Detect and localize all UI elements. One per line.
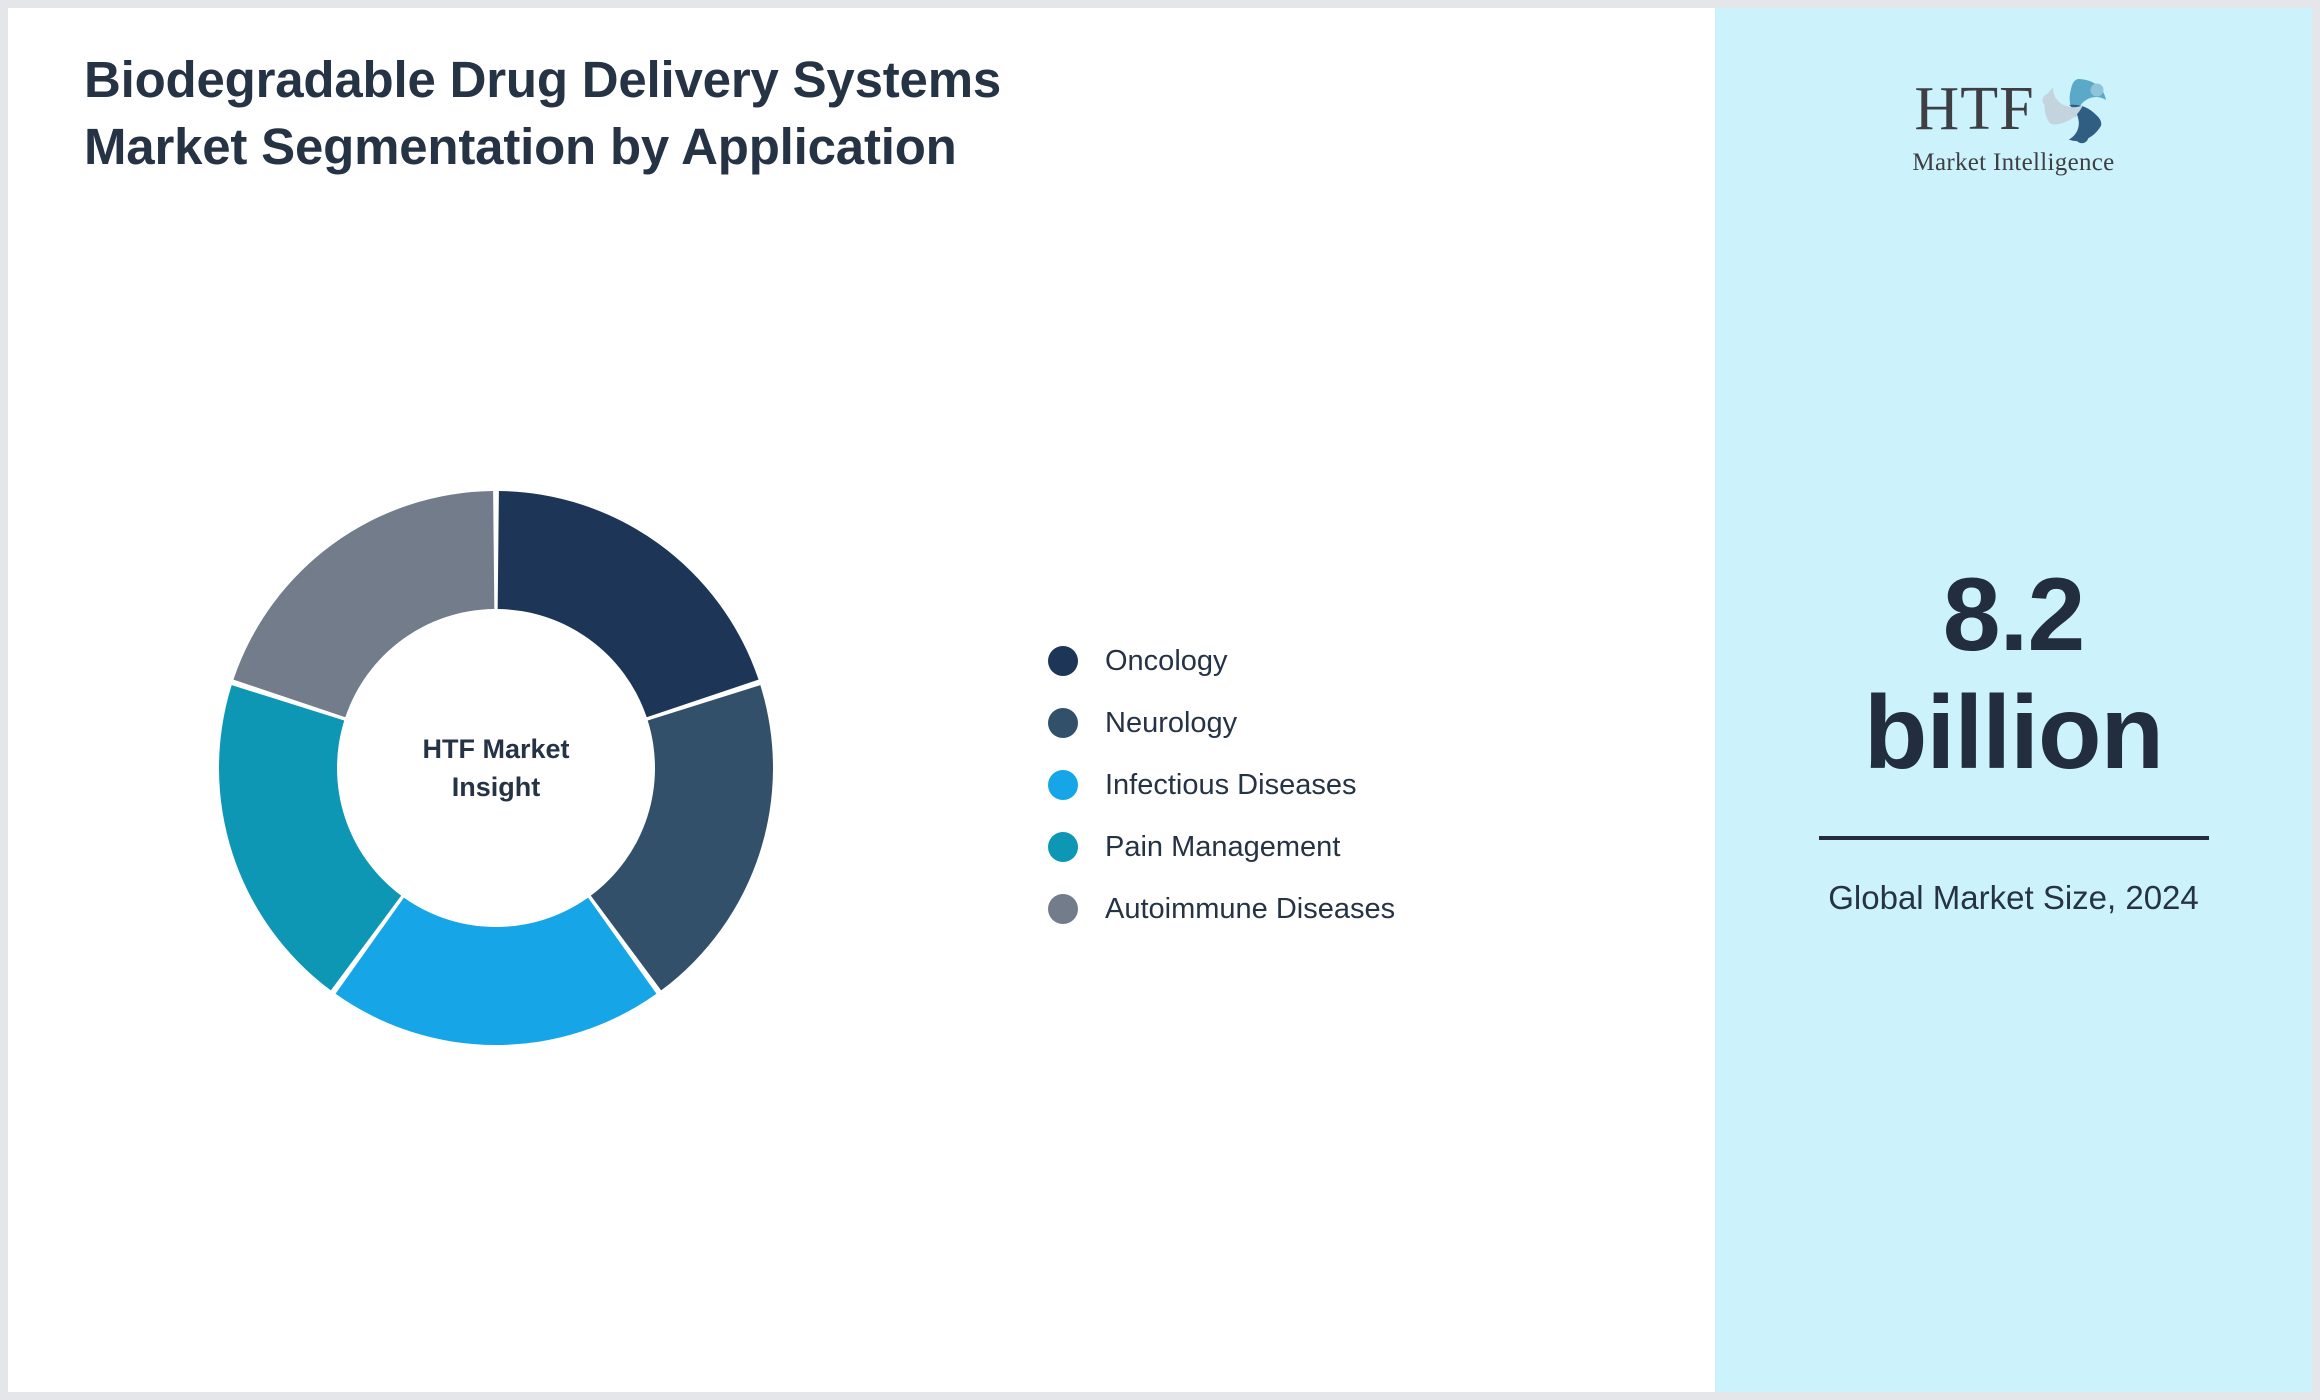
- stat-value-unit: billion: [1764, 674, 2264, 792]
- chart-legend: OncologyNeurologyInfectious DiseasesPain…: [1048, 630, 1395, 940]
- donut-chart-svg: [207, 479, 785, 1057]
- legend-label: Neurology: [1105, 707, 1237, 740]
- legend-swatch-icon: [1048, 770, 1078, 800]
- page-title: Biodegradable Drug Delivery Systems Mark…: [84, 46, 1034, 180]
- donut-chart: HTF Market Insight: [207, 479, 785, 1057]
- chart-pane: Biodegradable Drug Delivery Systems Mark…: [8, 8, 1715, 1392]
- legend-label: Oncology: [1105, 645, 1228, 678]
- legend-item: Infectious Diseases: [1048, 754, 1395, 816]
- legend-swatch-icon: [1048, 646, 1078, 676]
- infographic-card: Biodegradable Drug Delivery Systems Mark…: [8, 8, 2312, 1392]
- legend-label: Infectious Diseases: [1105, 769, 1356, 802]
- htf-triskelion-logo-icon: [2039, 73, 2113, 145]
- legend-swatch-icon: [1048, 894, 1078, 924]
- stat-block: 8.2 billion Global Market Size, 2024: [1764, 556, 2264, 922]
- donut-slice: [498, 491, 759, 717]
- legend-swatch-icon: [1048, 708, 1078, 738]
- logo-wordmark: HTF: [1914, 78, 2034, 140]
- legend-item: Autoimmune Diseases: [1048, 878, 1395, 940]
- infographic-canvas: Biodegradable Drug Delivery Systems Mark…: [0, 0, 2320, 1400]
- logo-tagline: Market Intelligence: [1889, 149, 2139, 177]
- legend-label: Autoimmune Diseases: [1105, 893, 1395, 926]
- legend-label: Pain Management: [1105, 831, 1340, 864]
- donut-slice: [336, 898, 657, 1045]
- legend-item: Oncology: [1048, 630, 1395, 692]
- stat-divider: [1819, 836, 2209, 840]
- logo-mark-row: HTF: [1889, 70, 2139, 148]
- stat-value-number: 8.2: [1764, 556, 2264, 674]
- donut-slice: [233, 491, 494, 717]
- stat-caption: Global Market Size, 2024: [1764, 874, 2264, 922]
- htf-logo: HTF: [1889, 70, 2139, 177]
- donut-slice-group: [219, 491, 773, 1045]
- legend-swatch-icon: [1048, 832, 1078, 862]
- legend-item: Neurology: [1048, 692, 1395, 754]
- stat-value: 8.2 billion: [1764, 556, 2264, 792]
- legend-item: Pain Management: [1048, 816, 1395, 878]
- stat-pane: HTF: [1715, 8, 2312, 1392]
